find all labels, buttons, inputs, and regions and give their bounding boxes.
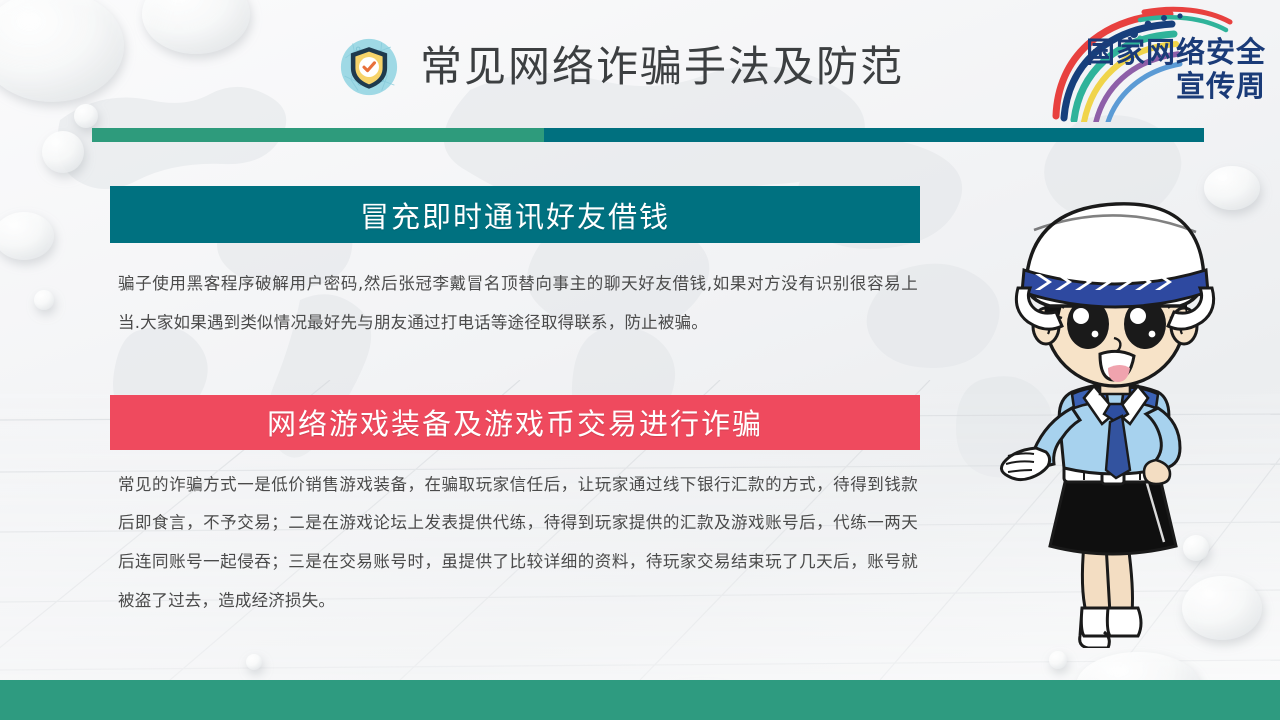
content-column: 冒充即时通讯好友借钱 骗子使用黑客程序破解用户密码,然后张冠李戴冒名顶替向事主的… — [0, 150, 930, 621]
logo-line2: 宣传周 — [1176, 69, 1266, 103]
section-heading-text-1: 冒充即时通讯好友借钱 — [360, 194, 670, 236]
page-title: 常见网络诈骗手法及防范 — [420, 46, 904, 88]
national-cybersecurity-week-logo: 国家网络安全 宣传周 — [1048, 4, 1272, 122]
section-body-1: 骗子使用黑客程序破解用户密码,然后张冠李戴冒名顶替向事主的聊天好友借钱,如果对方… — [118, 265, 918, 343]
section-body-2: 常见的诈骗方式一是低价销售游戏装备，在骗取玩家信任后，让玩家通过线下银行汇款的方… — [118, 466, 918, 621]
divider-segment-teal — [544, 128, 1204, 142]
title-group: 常见网络诈骗手法及防范 — [340, 38, 904, 96]
cartoon-police-officer-illustration — [988, 178, 1238, 648]
slide-canvas: 常见网络诈骗手法及防范 国家网络安全 宣传周 — [0, 0, 1280, 720]
section-heading-text-2: 网络游戏装备及游戏币交易进行诈骗 — [267, 401, 763, 443]
slide-header: 常见网络诈骗手法及防范 国家网络安全 宣传周 — [0, 0, 1280, 128]
footer-bar — [0, 680, 1280, 720]
section-heading-banner-1: 冒充即时通讯好友借钱 — [110, 186, 920, 243]
divider-segment-green — [92, 128, 544, 142]
section-heading-banner-2: 网络游戏装备及游戏币交易进行诈骗 — [110, 395, 920, 450]
shield-check-icon — [340, 38, 398, 96]
logo-line1: 国家网络安全 — [1086, 35, 1266, 69]
header-divider-bar — [92, 128, 1204, 142]
